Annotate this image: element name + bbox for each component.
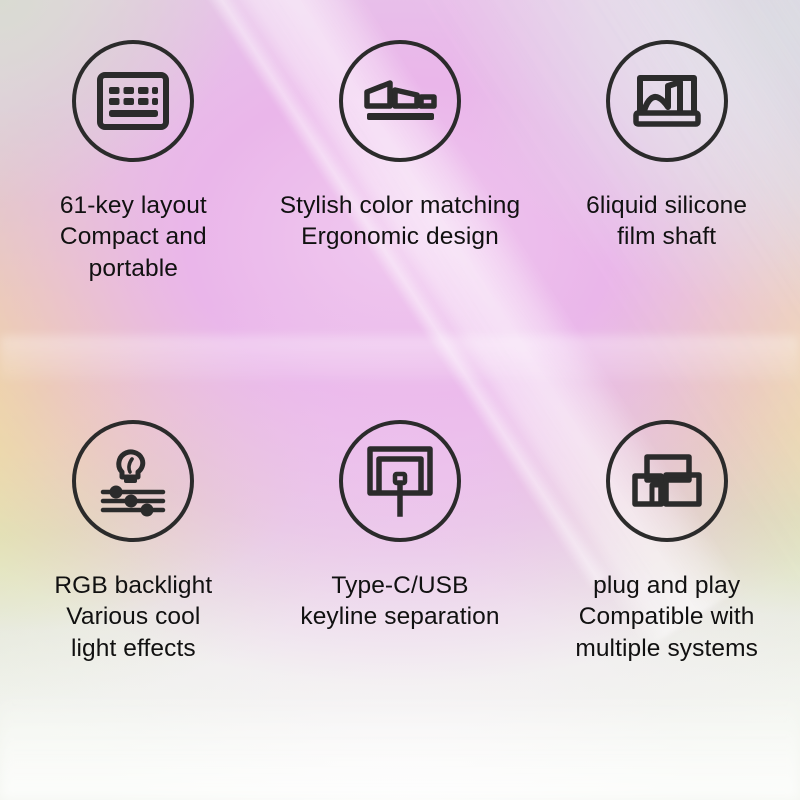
- feature-card-plug-and-play: plug and play Compatible with multiple s…: [533, 420, 800, 800]
- feature-caption: RGB backlight Various cool light effects: [54, 570, 212, 664]
- usb-cable-port-icon: [339, 420, 461, 542]
- feature-caption: 6liquid silicone film shaft: [586, 190, 747, 253]
- feature-card-rgb-backlight: RGB backlight Various cool light effects: [0, 420, 267, 800]
- ergonomic-keycap-profile-icon: [339, 40, 461, 162]
- lightbulb-sliders-icon: [72, 420, 194, 542]
- feature-caption: Stylish color matching Ergonomic design: [280, 190, 521, 253]
- feature-card-color-matching: Stylish color matching Ergonomic design: [267, 40, 534, 420]
- keyboard-icon: [72, 40, 194, 162]
- feature-card-key-layout: 61-key layout Compact and portable: [0, 40, 267, 420]
- feature-caption: 61-key layout Compact and portable: [60, 190, 207, 284]
- feature-grid: 61-key layout Compact and portable Styli…: [0, 0, 800, 760]
- feature-card-detachable-cable: Type-C/USB keyline separation: [267, 420, 534, 800]
- feature-card-silicone-film-shaft: 6liquid silicone film shaft: [533, 40, 800, 420]
- multi-device-icon: [606, 420, 728, 542]
- feature-board: 61-key layout Compact and portable Styli…: [0, 0, 800, 800]
- feature-caption: plug and play Compatible with multiple s…: [575, 570, 758, 664]
- silicone-membrane-icon: [606, 40, 728, 162]
- feature-caption: Type-C/USB keyline separation: [300, 570, 499, 633]
